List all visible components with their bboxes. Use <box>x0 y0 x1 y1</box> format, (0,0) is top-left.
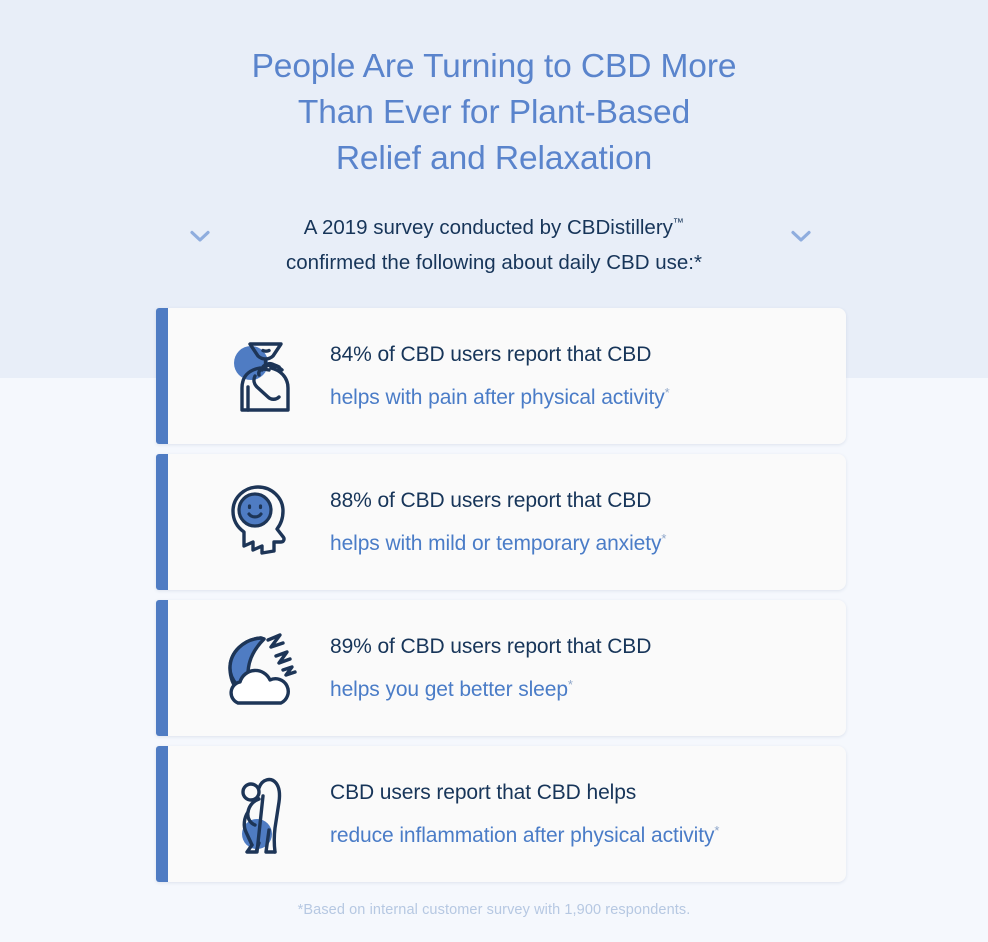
stat-line-primary: 88% of CBD users report that CBD <box>330 482 846 520</box>
stat-card-sleep: 89% of CBD users report that CBD helps y… <box>156 600 846 736</box>
headline-line-1: People Are Turning to CBD More <box>0 44 988 90</box>
footnote-marker: * <box>714 823 719 838</box>
chevron-down-icon-left <box>187 226 213 246</box>
head-smiley-icon <box>208 470 320 574</box>
subtitle-line-1: A 2019 survey conducted by CBDistillery™ <box>286 206 702 245</box>
subtitle: A 2019 survey conducted by CBDistillery™… <box>286 206 702 280</box>
stat-line-primary: CBD users report that CBD helps <box>330 774 846 812</box>
stat-line-secondary-text: helps you get better sleep <box>330 678 568 701</box>
page-title: People Are Turning to CBD More Than Ever… <box>0 44 988 182</box>
stat-card-text: 84% of CBD users report that CBD helps w… <box>320 336 846 417</box>
footnote-marker: * <box>665 385 670 400</box>
infographic-page: People Are Turning to CBD More Than Ever… <box>0 0 988 942</box>
shoulder-pain-icon <box>208 324 320 428</box>
footnote-marker: * <box>661 531 666 546</box>
chevron-down-icon-right <box>788 226 814 246</box>
headline-line-3: Relief and Relaxation <box>0 136 988 182</box>
stat-line-primary: 89% of CBD users report that CBD <box>330 628 846 666</box>
stat-card-list: 84% of CBD users report that CBD helps w… <box>156 308 846 892</box>
stretching-figure-icon <box>208 762 320 866</box>
trademark-symbol: ™ <box>673 217 684 229</box>
footnote-marker: * <box>568 677 573 692</box>
stat-line-secondary-text: helps with mild or temporary anxiety <box>330 532 661 555</box>
subtitle-line-1-text: A 2019 survey conducted by CBDistillery <box>304 216 673 239</box>
stat-card-pain: 84% of CBD users report that CBD helps w… <box>156 308 846 444</box>
stat-card-text: 89% of CBD users report that CBD helps y… <box>320 628 846 709</box>
stat-line-secondary: reduce inflammation after physical activ… <box>330 812 846 855</box>
subtitle-container: A 2019 survey conducted by CBDistillery™… <box>0 206 988 280</box>
stat-card-anxiety: 88% of CBD users report that CBD helps w… <box>156 454 846 590</box>
moon-cloud-sleep-icon <box>208 616 320 720</box>
stat-line-secondary: helps you get better sleep* <box>330 666 846 709</box>
footnote: *Based on internal customer survey with … <box>0 900 988 920</box>
stat-line-secondary: helps with pain after physical activity* <box>330 374 846 417</box>
stat-line-secondary-text: reduce inflammation after physical activ… <box>330 824 714 847</box>
stat-card-text: 88% of CBD users report that CBD helps w… <box>320 482 846 563</box>
stat-card-text: CBD users report that CBD helps reduce i… <box>320 774 846 855</box>
headline-line-2: Than Ever for Plant-Based <box>0 90 988 136</box>
stat-line-primary: 84% of CBD users report that CBD <box>330 336 846 374</box>
stat-card-inflammation: CBD users report that CBD helps reduce i… <box>156 746 846 882</box>
stat-line-secondary-text: helps with pain after physical activity <box>330 386 665 409</box>
stat-line-secondary: helps with mild or temporary anxiety* <box>330 520 846 563</box>
subtitle-line-2: confirmed the following about daily CBD … <box>286 245 702 280</box>
